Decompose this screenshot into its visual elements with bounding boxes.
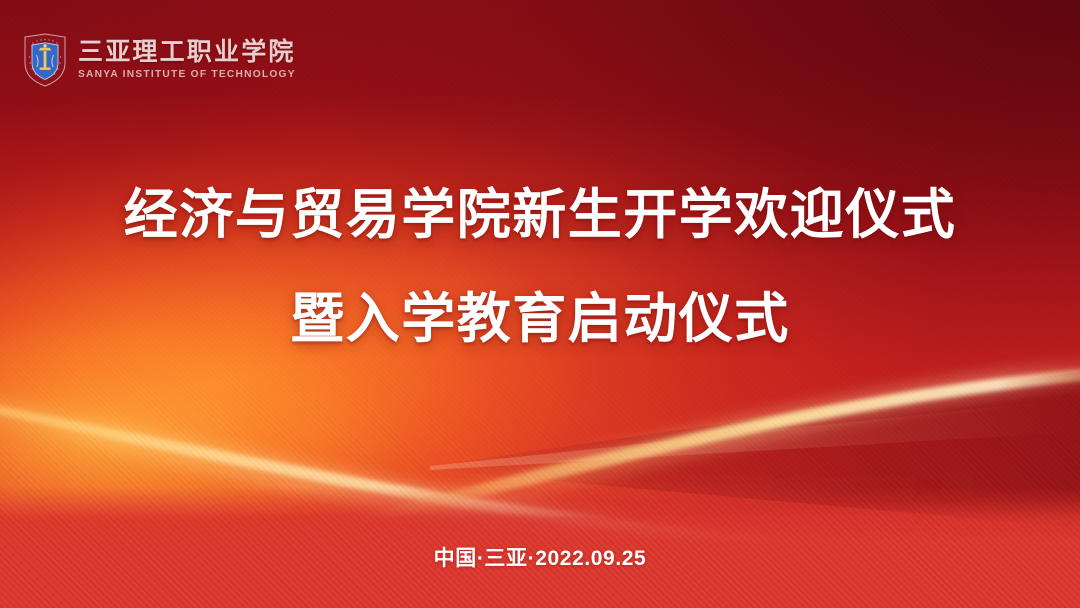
title-line-secondary: 暨入学教育启动仪式: [0, 292, 1080, 346]
location-date-text: 中国·三亚·2022.09.25: [0, 542, 1080, 572]
logo-name-cn: 三亚理工职业学院: [78, 39, 296, 66]
slide-banner: 三亚理工职业学院 SANYA INSTITUTE OF TECHNOLOGY 经…: [0, 0, 1080, 608]
shield-crest-icon: [22, 33, 68, 87]
title-line-primary: 经济与贸易学院新生开学欢迎仪式: [0, 188, 1080, 242]
logo-name-en: SANYA INSTITUTE OF TECHNOLOGY: [78, 69, 296, 82]
university-logo: 三亚理工职业学院 SANYA INSTITUTE OF TECHNOLOGY: [22, 33, 296, 87]
logo-text-block: 三亚理工职业学院 SANYA INSTITUTE OF TECHNOLOGY: [78, 39, 296, 82]
title-block: 经济与贸易学院新生开学欢迎仪式 暨入学教育启动仪式: [0, 188, 1080, 346]
